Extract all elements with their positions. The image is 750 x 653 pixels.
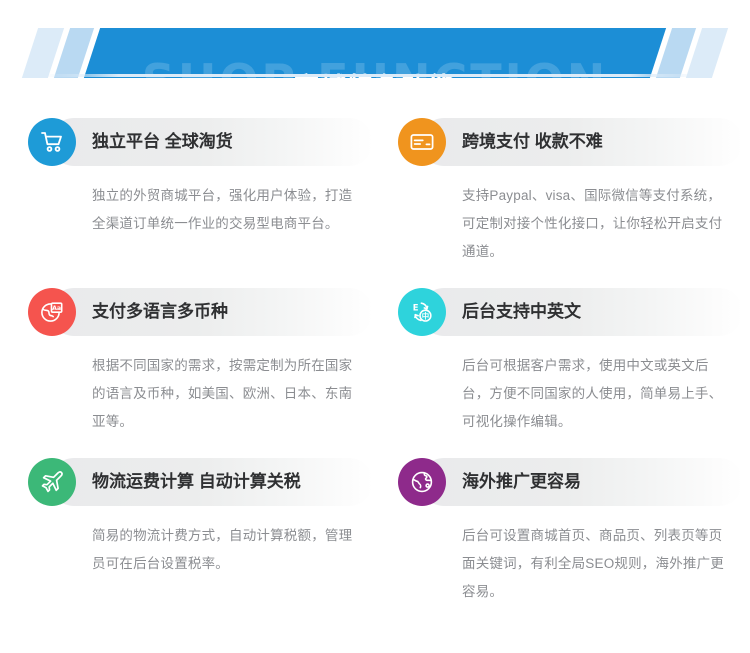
feature-card-header: 独立平台 全球淘货 <box>28 118 373 166</box>
feature-description: 后台可根据客户需求，使用中文或英文后台，方便不同国家的人使用，简单易上手、可视化… <box>462 352 734 436</box>
feature-card[interactable]: E 中 后台支持中英文 后台可根据客户需求，使用中文或英文后台，方便不同国家的人… <box>398 288 743 458</box>
feature-card[interactable]: 独立平台 全球淘货 独立的外贸商城平台，强化用户体验，打造全渠道订单统一作业的交… <box>28 118 373 288</box>
feature-card-header: E 中 后台支持中英文 <box>398 288 743 336</box>
feature-title: 独立平台 全球淘货 <box>92 118 233 166</box>
language-switch-icon: E 中 <box>398 288 446 336</box>
svg-text:中: 中 <box>422 312 429 321</box>
feature-card-header: 物流运费计算 自动计算关税 <box>28 458 373 506</box>
feature-description: 后台可设置商城首页、商品页、列表页等页面关键词，有利全局SEO规则，海外推广更容… <box>462 522 734 606</box>
credit-card-icon <box>398 118 446 166</box>
banner-underline <box>38 74 710 77</box>
globe-promotion-icon <box>398 458 446 506</box>
airplane-icon <box>28 458 76 506</box>
feature-column-right: 跨境支付 收款不难 支持Paypal、visa、国际微信等支付系统，可定制对接个… <box>398 118 743 628</box>
svg-text:Aa: Aa <box>52 305 61 312</box>
feature-title: 物流运费计算 自动计算关税 <box>92 458 301 506</box>
feature-description: 根据不同国家的需求，按需定制为所在国家的语言及币种，如美国、欧洲、日本、东南亚等… <box>92 352 364 436</box>
section-banner: SHOP FUNCTION 商城特色功能 <box>0 28 750 78</box>
feature-title: 海外推广更容易 <box>462 458 581 506</box>
feature-description-text: 后台可设置商城首页、商品页、列表页等页面关键词，有利全局SEO规则，海外推广更容… <box>462 522 734 606</box>
feature-description: 独立的外贸商城平台，强化用户体验，打造全渠道订单统一作业的交易型电商平台。 <box>92 182 364 238</box>
feature-description-text: 支持Paypal、visa、国际微信等支付系统，可定制对接个性化接口，让你轻松开… <box>462 182 734 266</box>
feature-card[interactable]: 跨境支付 收款不难 支持Paypal、visa、国际微信等支付系统，可定制对接个… <box>398 118 743 288</box>
feature-card-header: Aa 支付多语言多币种 <box>28 288 373 336</box>
feature-description-text: 独立的外贸商城平台，强化用户体验，打造全渠道订单统一作业的交易型电商平台。 <box>92 182 364 238</box>
feature-card[interactable]: Aa 支付多语言多币种 根据不同国家的需求，按需定制为所在国家的语言及币种，如美… <box>28 288 373 458</box>
feature-card[interactable]: 物流运费计算 自动计算关税 简易的物流计费方式，自动计算税额，管理员可在后台设置… <box>28 458 373 628</box>
section-title: 商城特色功能 <box>0 67 750 103</box>
shopping-cart-icon <box>28 118 76 166</box>
feature-title: 支付多语言多币种 <box>92 288 228 336</box>
feature-description-text: 根据不同国家的需求，按需定制为所在国家的语言及币种，如美国、欧洲、日本、东南亚等… <box>92 352 364 436</box>
feature-card-header: 跨境支付 收款不难 <box>398 118 743 166</box>
feature-card[interactable]: 海外推广更容易 后台可设置商城首页、商品页、列表页等页面关键词，有利全局SEO规… <box>398 458 743 628</box>
feature-description: 简易的物流计费方式，自动计算税额，管理员可在后台设置税率。 <box>92 522 364 578</box>
feature-card-header: 海外推广更容易 <box>398 458 743 506</box>
feature-section: SHOP FUNCTION 商城特色功能 独立平台 全球淘货 <box>0 0 750 653</box>
feature-title: 跨境支付 收款不难 <box>462 118 603 166</box>
feature-column-left: 独立平台 全球淘货 独立的外贸商城平台，强化用户体验，打造全渠道订单统一作业的交… <box>28 118 373 628</box>
feature-description: 支持Paypal、visa、国际微信等支付系统，可定制对接个性化接口，让你轻松开… <box>462 182 734 266</box>
feature-title: 后台支持中英文 <box>462 288 581 336</box>
feature-description-text: 后台可根据客户需求，使用中文或英文后台，方便不同国家的人使用，简单易上手、可视化… <box>462 352 734 436</box>
feature-description-text: 简易的物流计费方式，自动计算税额，管理员可在后台设置税率。 <box>92 522 364 578</box>
svg-text:E: E <box>413 302 419 312</box>
globe-translate-icon: Aa <box>28 288 76 336</box>
